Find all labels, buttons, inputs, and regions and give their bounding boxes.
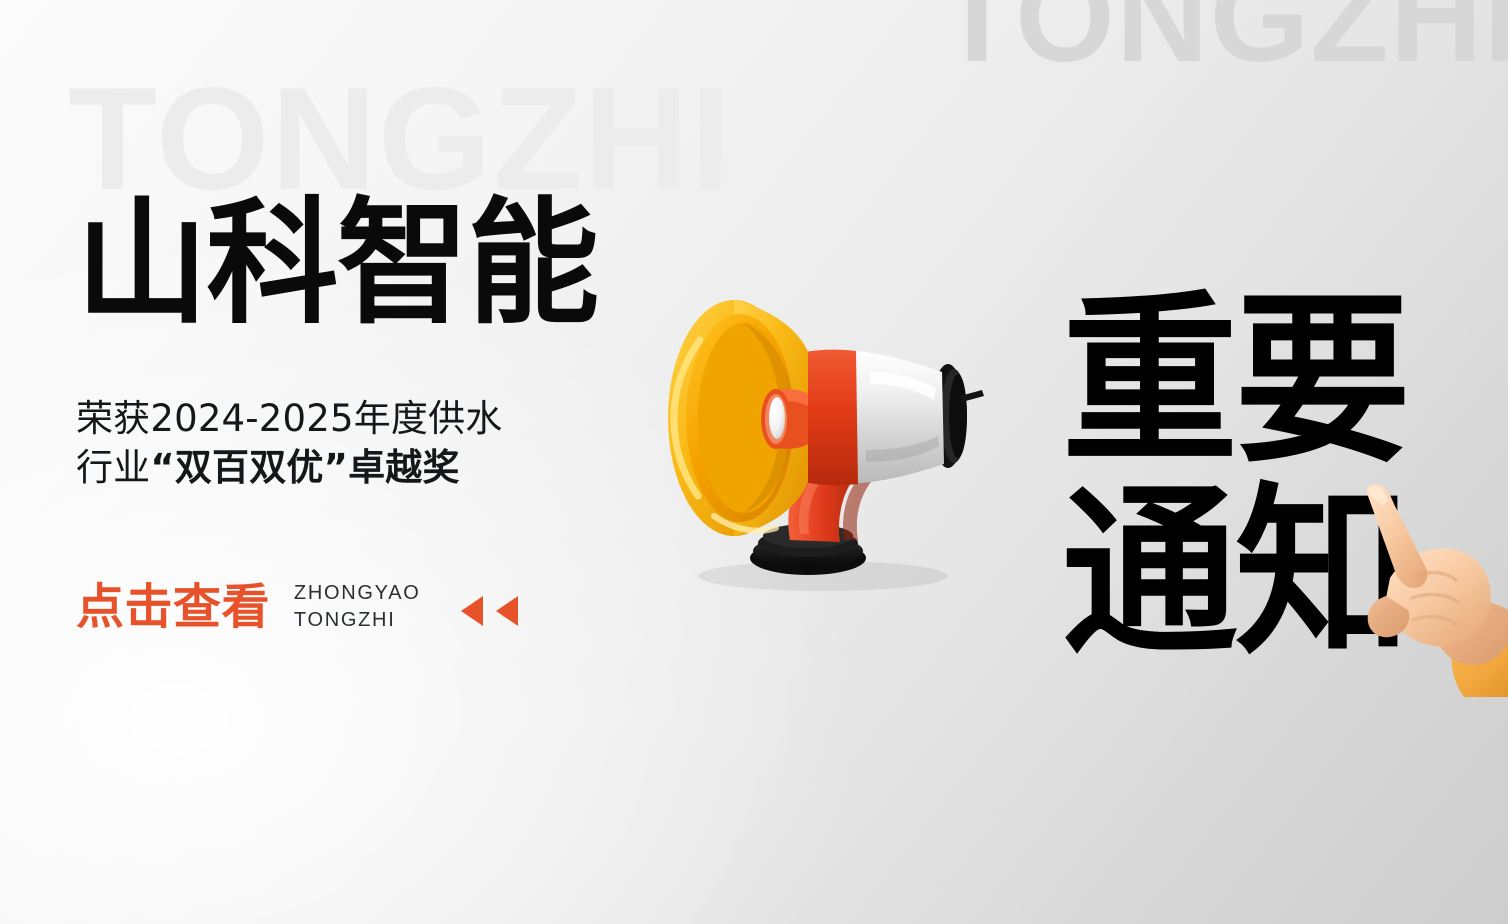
notice-headline-line1: 重要 (1062, 282, 1408, 482)
triangle-left-icon (461, 596, 483, 626)
watermark-text-back: TONGZHI (938, 0, 1508, 82)
promotional-banner: TONGZHI TONGZHI (0, 0, 1508, 924)
cta-pinyin-line1: ZHONGYAO (294, 580, 421, 606)
award-subtitle-line2-prefix: 行业 (76, 446, 150, 489)
triangle-left-icon (496, 596, 518, 626)
award-subtitle-line2-emphasis: “双百双优”卓越奖 (150, 446, 459, 489)
pointing-hand-icon (1338, 482, 1508, 697)
cta-pinyin-line2: TONGZHI (294, 607, 421, 633)
megaphone-icon (608, 268, 1038, 598)
view-details-button[interactable]: 点击查看 (76, 583, 270, 631)
cta-pinyin: ZHONGYAO TONGZHI (294, 580, 421, 633)
arrow-group (461, 596, 518, 626)
